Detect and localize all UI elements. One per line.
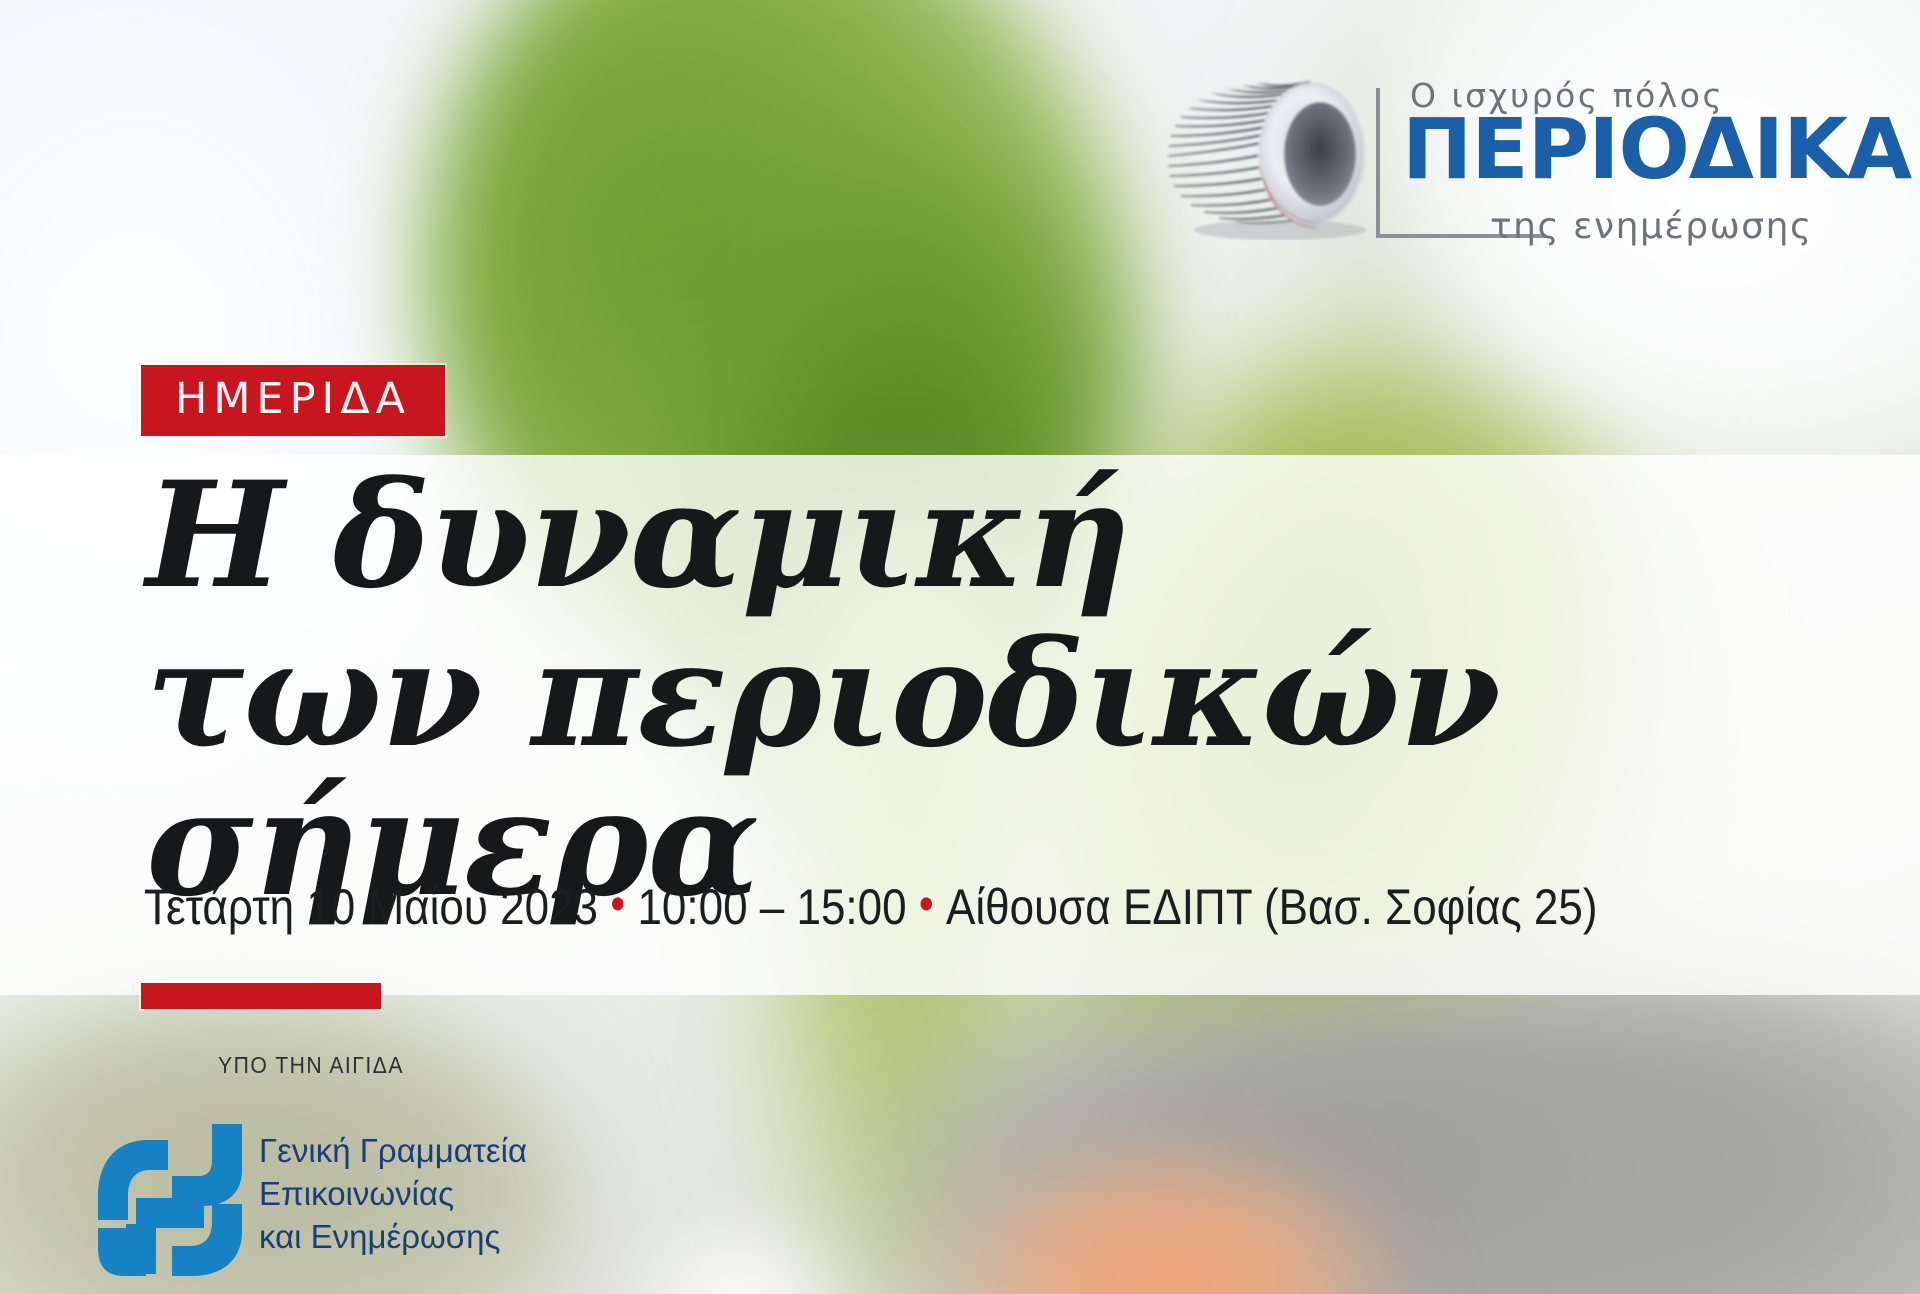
government-logo-line-1: Γενική Γραμματεία — [259, 1130, 527, 1173]
event-time: 10:00 – 15:00 — [637, 879, 906, 935]
event-type-badge: ΗΜΕΡΙΔΑ — [141, 365, 445, 436]
brand-divider-vertical — [1376, 88, 1380, 238]
page-title: Η δυναμική των περιοδικών σήμερα — [146, 462, 1846, 919]
accent-rule — [141, 983, 381, 1009]
rolled-magazine-icon — [1160, 60, 1376, 240]
event-details-line: Τετάρτη 10 Μαΐου 2023•10:00 – 15:00•Αίθο… — [144, 878, 1597, 936]
periodika-brand-logo: Ο ισχυρός πόλος ΠΕΡΙΟΔΙΚΑ της ενημέρωσης — [1160, 52, 1860, 252]
details-separator-2: • — [907, 878, 946, 931]
event-venue: Αίθουσα ΕΔΙΠΤ (Βασ. Σοφίας 25) — [946, 879, 1597, 935]
auspices-label: ΥΠΟ ΤΗΝ ΑΙΓΙΔΑ — [218, 1052, 404, 1079]
event-poster: Ο ισχυρός πόλος ΠΕΡΙΟΔΙΚΑ της ενημέρωσης… — [0, 0, 1920, 1294]
page-title-line-2: των περιοδικών σήμερα — [146, 621, 1846, 919]
brand-tagline-bottom: της ενημέρωσης — [1490, 206, 1813, 247]
government-logo-line-2: Επικοινωνίας — [259, 1173, 527, 1216]
brand-name: ΠΕΡΙΟΔΙΚΑ — [1402, 110, 1911, 190]
greek-government-wave-icon — [96, 1124, 244, 1276]
details-separator-1: • — [598, 878, 637, 931]
event-date: Τετάρτη 10 Μαΐου 2023 — [144, 879, 598, 935]
event-type-badge-label: ΗΜΕΡΙΔΑ — [175, 378, 411, 421]
government-logo: Γενική Γραμματεία Επικοινωνίας και Ενημέ… — [96, 1124, 526, 1284]
government-logo-line-3: και Ενημέρωσης — [259, 1216, 527, 1259]
government-logo-text: Γενική Γραμματεία Επικοινωνίας και Ενημέ… — [259, 1130, 527, 1259]
page-title-line-1: Η δυναμική — [146, 462, 1846, 611]
